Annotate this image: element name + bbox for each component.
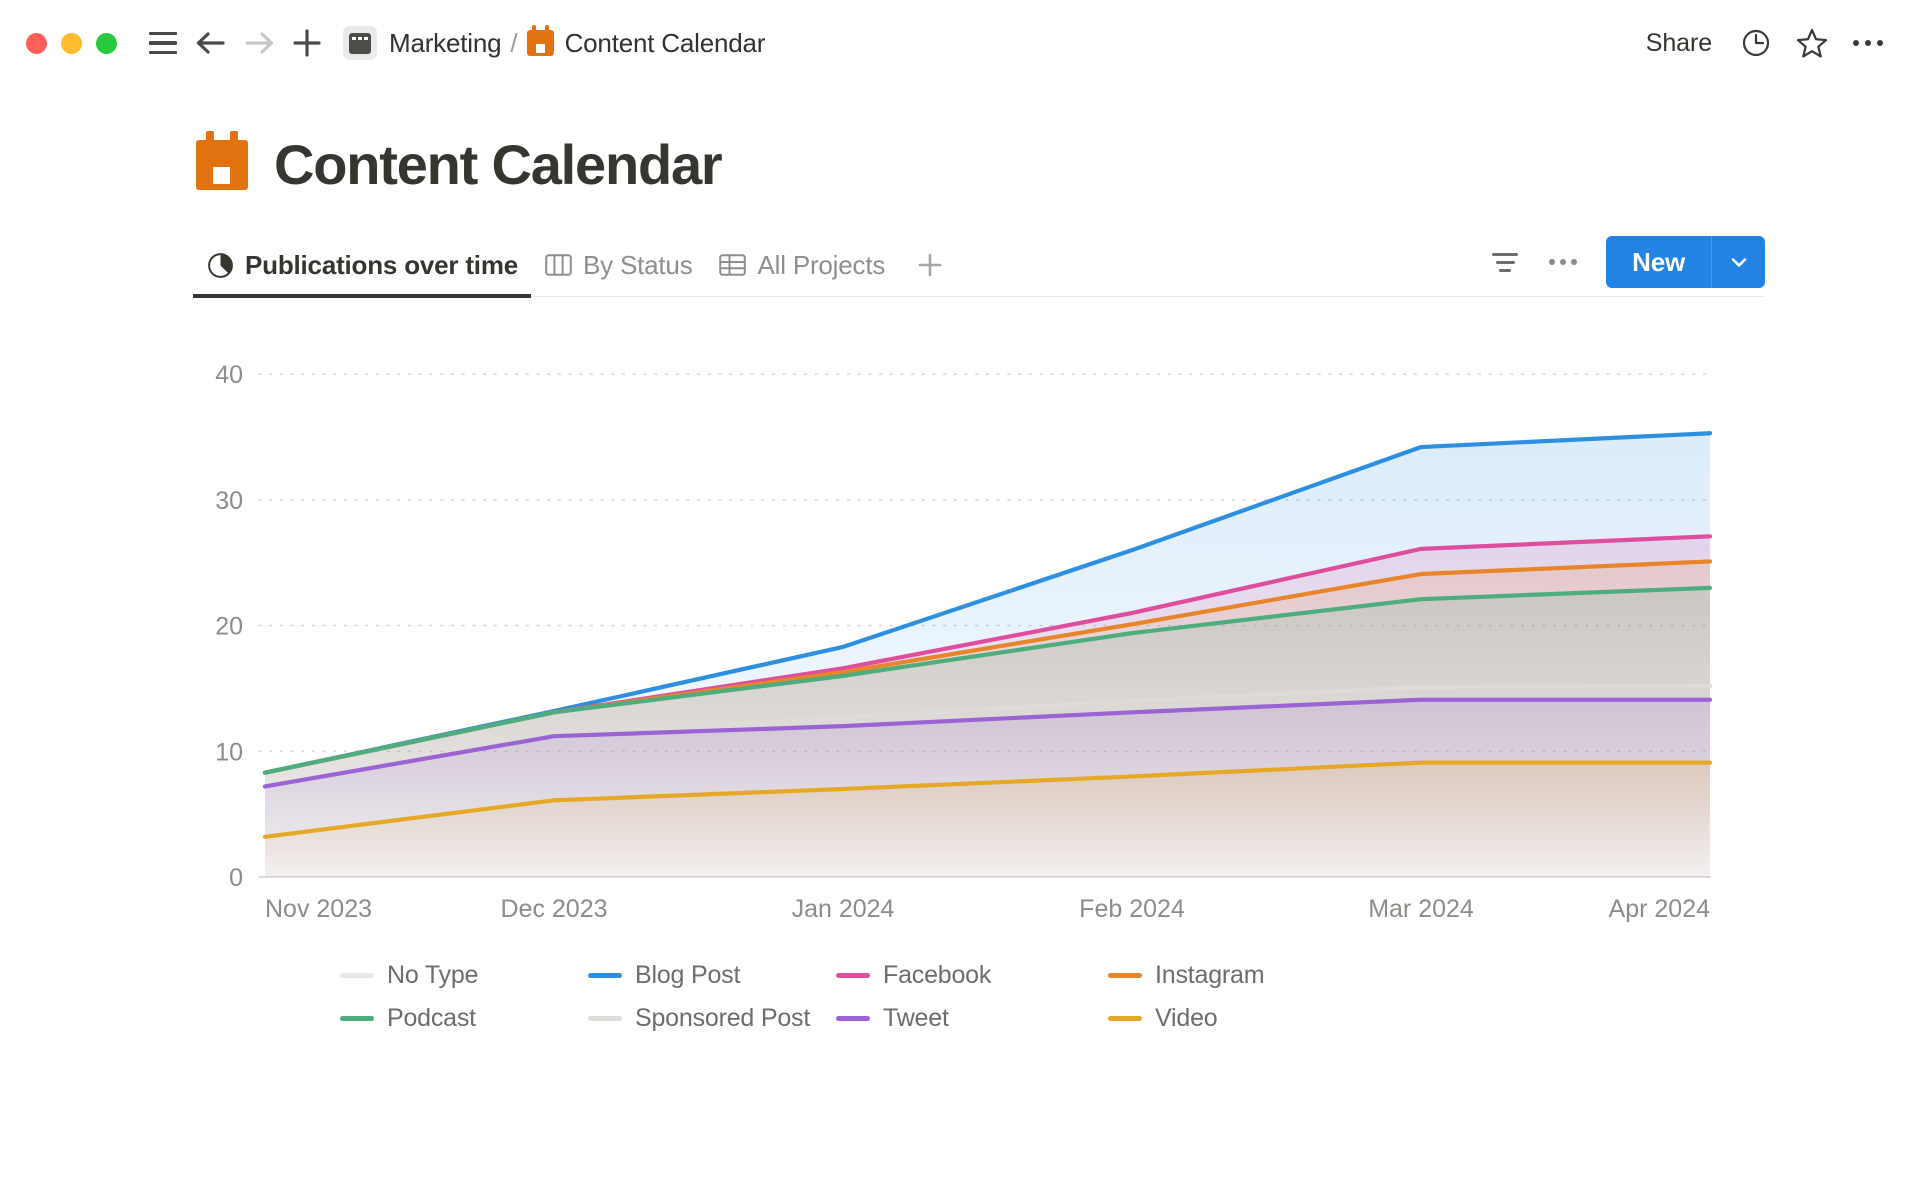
legend-swatch-icon — [836, 973, 870, 978]
legend-label: No Type — [387, 961, 478, 990]
tab-label: All Projects — [758, 250, 886, 281]
legend-item-podcast[interactable]: Podcast — [340, 1004, 588, 1033]
legend-item-facebook[interactable]: Facebook — [836, 961, 1108, 990]
legend-label: Sponsored Post — [635, 1004, 810, 1033]
breadcrumb-workspace[interactable]: Marketing — [389, 28, 501, 59]
nav-controls — [139, 19, 331, 67]
legend-label: Instagram — [1155, 961, 1264, 990]
legend-item-sponsored-post[interactable]: Sponsored Post — [588, 1004, 836, 1033]
page-header: Content Calendar — [0, 86, 1920, 197]
tab-publications-over-time[interactable]: Publications over time — [193, 234, 531, 296]
gallery-icon — [349, 33, 371, 54]
star-icon — [1796, 27, 1828, 59]
new-button[interactable]: New — [1606, 236, 1711, 288]
view-tabs: Publications over time By Status — [193, 234, 962, 296]
app-window: Marketing / Content Calendar Share — [0, 0, 1920, 1200]
new-page-button[interactable] — [283, 19, 331, 67]
chart-area[interactable]: 010203040Nov 2023Dec 2023Jan 2024Feb 202… — [193, 335, 1728, 935]
close-window-button[interactable] — [26, 33, 47, 54]
ellipsis-icon — [1549, 259, 1577, 265]
back-button[interactable] — [187, 19, 235, 67]
legend-label: Facebook — [883, 961, 991, 990]
back-arrow-icon — [195, 30, 227, 56]
history-button[interactable] — [1728, 19, 1784, 67]
svg-text:40: 40 — [215, 361, 243, 389]
breadcrumb-page[interactable]: Content Calendar — [565, 28, 766, 59]
view-more-button[interactable] — [1536, 239, 1590, 285]
forward-arrow-icon — [243, 30, 275, 56]
legend-label: Tweet — [883, 1004, 949, 1033]
svg-text:Nov 2023: Nov 2023 — [265, 895, 372, 923]
sidebar-toggle-button[interactable] — [139, 19, 187, 67]
tab-label: Publications over time — [245, 250, 518, 281]
plus-icon — [916, 251, 944, 279]
zoom-window-button[interactable] — [96, 33, 117, 54]
legend-label: Video — [1155, 1004, 1218, 1033]
legend-item-tweet[interactable]: Tweet — [836, 1004, 1108, 1033]
chevron-down-icon — [1727, 250, 1751, 274]
tab-all-projects[interactable]: All Projects — [706, 234, 899, 296]
svg-text:Feb 2024: Feb 2024 — [1079, 895, 1185, 923]
svg-text:30: 30 — [215, 487, 243, 515]
tab-label: By Status — [583, 250, 692, 281]
legend-swatch-icon — [340, 973, 374, 978]
hamburger-icon — [149, 32, 177, 54]
pie-chart-icon — [206, 251, 234, 279]
legend-label: Blog Post — [635, 961, 740, 990]
page-content: Content Calendar Publications over time — [0, 86, 1920, 1033]
svg-text:10: 10 — [215, 738, 243, 766]
legend-swatch-icon — [1108, 973, 1142, 978]
ellipsis-icon — [1853, 40, 1884, 47]
page-calendar-icon[interactable] — [196, 140, 248, 190]
titlebar-more-button[interactable] — [1840, 19, 1896, 67]
svg-text:Jan 2024: Jan 2024 — [792, 895, 895, 923]
svg-text:Dec 2023: Dec 2023 — [500, 895, 607, 923]
svg-text:Mar 2024: Mar 2024 — [1368, 895, 1474, 923]
svg-text:Apr 2024: Apr 2024 — [1609, 895, 1711, 923]
new-dropdown-button[interactable] — [1711, 236, 1765, 288]
legend-swatch-icon — [836, 1016, 870, 1021]
filter-button[interactable] — [1478, 239, 1532, 285]
legend-item-no-type[interactable]: No Type — [340, 961, 588, 990]
clock-icon — [1741, 28, 1771, 58]
chart-legend: No TypeBlog PostFacebookInstagramPodcast… — [340, 961, 1540, 1033]
calendar-icon — [527, 30, 554, 56]
view-actions: New — [1478, 236, 1765, 296]
breadcrumb-separator: / — [510, 28, 517, 59]
tab-by-status[interactable]: By Status — [531, 234, 705, 296]
page-title[interactable]: Content Calendar — [274, 132, 722, 197]
add-view-button[interactable] — [898, 234, 962, 296]
legend-item-instagram[interactable]: Instagram — [1108, 961, 1356, 990]
new-button-group: New — [1606, 236, 1765, 288]
plus-icon — [292, 28, 322, 58]
table-icon — [719, 251, 747, 279]
filter-icon — [1492, 253, 1518, 272]
title-bar: Marketing / Content Calendar Share — [0, 0, 1920, 86]
legend-swatch-icon — [588, 973, 622, 978]
legend-swatch-icon — [340, 1016, 374, 1021]
legend-swatch-icon — [1108, 1016, 1142, 1021]
board-icon — [544, 251, 572, 279]
minimize-window-button[interactable] — [61, 33, 82, 54]
share-button[interactable]: Share — [1630, 21, 1728, 66]
svg-text:20: 20 — [215, 613, 243, 641]
favorite-button[interactable] — [1784, 19, 1840, 67]
view-tab-bar: Publications over time By Status — [193, 235, 1765, 297]
workspace-icon-wrapper — [343, 26, 377, 60]
forward-button[interactable] — [235, 19, 283, 67]
legend-item-video[interactable]: Video — [1108, 1004, 1356, 1033]
publications-over-time-chart[interactable]: 010203040Nov 2023Dec 2023Jan 2024Feb 202… — [193, 335, 1728, 935]
traffic-lights — [26, 33, 117, 54]
titlebar-actions: Share — [1630, 19, 1896, 67]
breadcrumb: Marketing / Content Calendar — [343, 26, 765, 60]
legend-swatch-icon — [588, 1016, 622, 1021]
legend-label: Podcast — [387, 1004, 476, 1033]
legend-item-blog-post[interactable]: Blog Post — [588, 961, 836, 990]
svg-text:0: 0 — [229, 864, 243, 892]
